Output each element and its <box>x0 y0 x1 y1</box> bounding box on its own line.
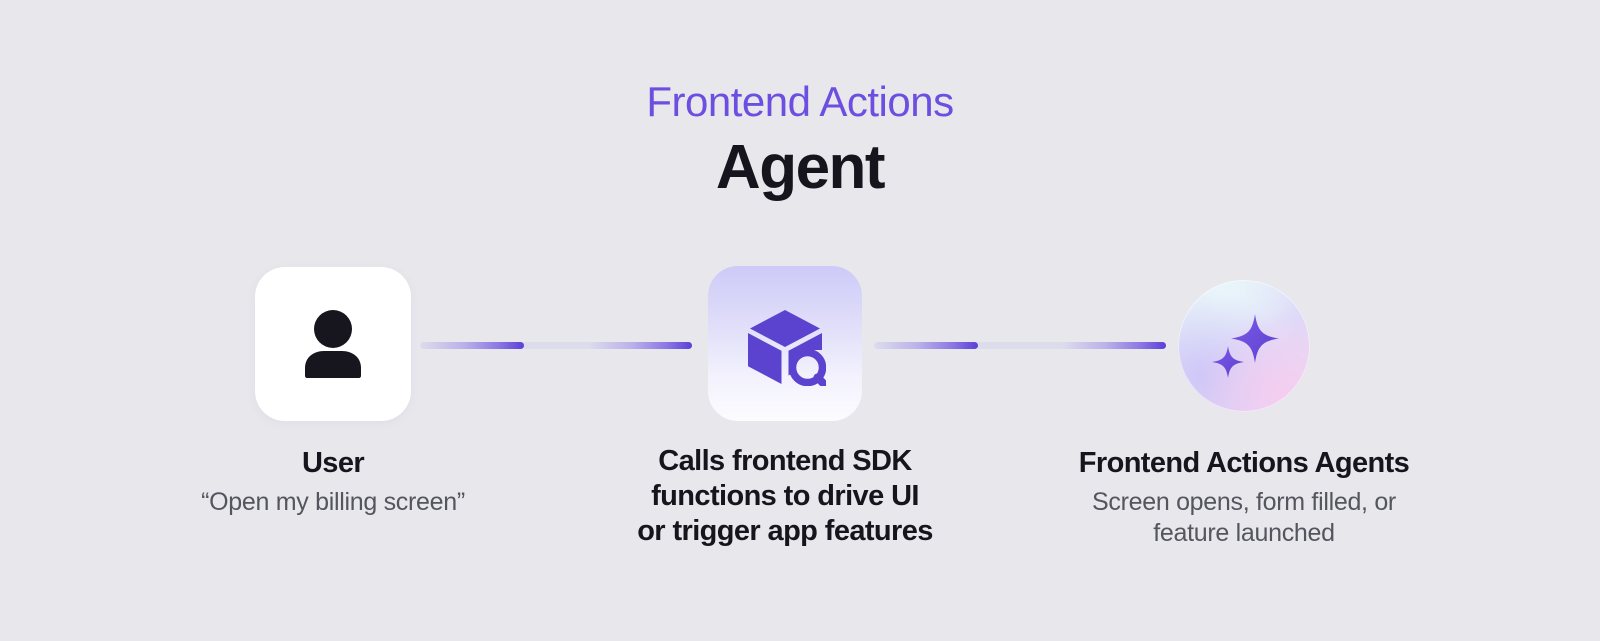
person-icon <box>301 310 365 378</box>
caption-user-title: User <box>113 444 553 482</box>
caption-user-subtitle: “Open my billing screen” <box>113 487 553 518</box>
connector-segment-left <box>874 342 978 349</box>
node-agents-circle <box>1178 280 1310 412</box>
diagram-canvas: Frontend Actions Agent <box>0 0 1600 641</box>
caption-agents: Frontend Actions Agents Screen opens, fo… <box>1024 444 1464 549</box>
caption-sdk: Calls frontend SDK functions to drive UI… <box>565 444 1005 549</box>
caption-sdk-line-3: or trigger app features <box>565 514 1005 549</box>
caption-agents-subtitle-line-1: Screen opens, form filled, or <box>1024 487 1464 518</box>
node-sdk-card <box>708 266 862 421</box>
caption-sdk-line-2: functions to drive UI <box>565 479 1005 514</box>
node-user-card <box>255 267 411 421</box>
caption-user: User “Open my billing screen” <box>113 444 553 518</box>
caption-sdk-line-1: Calls frontend SDK <box>565 444 1005 479</box>
caption-agents-subtitle-line-2: feature launched <box>1024 518 1464 549</box>
eyebrow-text: Frontend Actions <box>0 74 1600 130</box>
connector-segment-left <box>420 342 524 349</box>
heading-block: Frontend Actions Agent <box>0 74 1600 204</box>
connector-segment-right <box>1062 342 1166 349</box>
connector-segment-right <box>588 342 692 349</box>
caption-agents-title: Frontend Actions Agents <box>1024 444 1464 482</box>
page-title: Agent <box>0 132 1600 204</box>
connector-user-to-sdk <box>420 342 692 349</box>
cube-search-icon <box>744 304 826 386</box>
connector-sdk-to-agents <box>874 342 1166 349</box>
flow-row <box>0 266 1600 426</box>
sparkle-icon <box>1207 306 1285 384</box>
